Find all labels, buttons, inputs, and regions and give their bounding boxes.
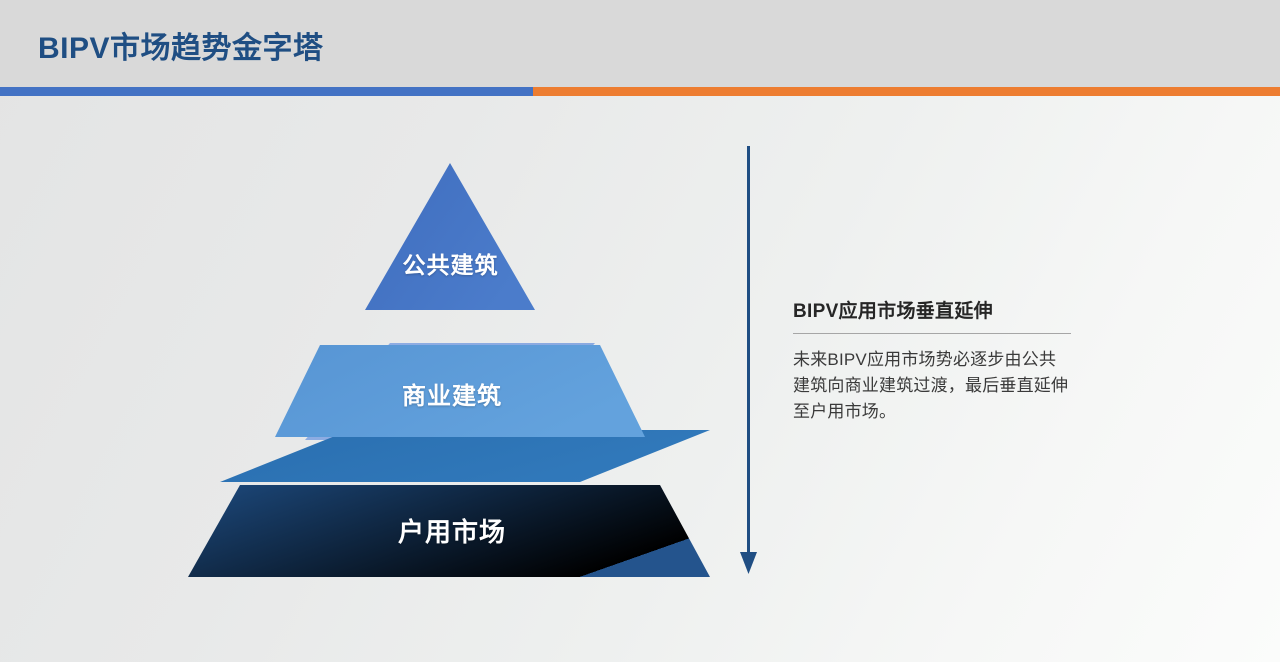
pyramid-label-top: 公共建筑 [393,246,508,280]
pyramid-label-bottom: 户用市场 [382,512,522,549]
callout-divider [793,333,1071,334]
accent-bar [0,87,1280,96]
callout-block: BIPV应用市场垂直延伸 未来BIPV应用市场势必逐步由公共建筑向商业建筑过渡，… [793,296,1093,424]
pyramid-connector-bottom-shape [220,430,710,482]
slide-canvas: BIPV市场趋势金字塔 [0,0,1280,662]
callout-body-text: 未来BIPV应用市场势必逐步由公共建筑向商业建筑过渡，最后垂直延伸至户用市场。 [793,347,1071,424]
accent-bar-blue-segment [0,87,533,96]
pyramid-label-middle: 商业建筑 [387,376,517,411]
vertical-arrow [735,142,765,582]
pyramid-level-top [365,163,535,310]
arrow-head-icon [740,552,757,574]
page-title: BIPV市场趋势金字塔 [38,23,324,67]
pyramid-diagram: 公共建筑 商业建筑 户用市场 [160,140,740,600]
accent-bar-orange-segment [533,87,1280,96]
callout-heading: BIPV应用市场垂直延伸 [793,296,1093,323]
